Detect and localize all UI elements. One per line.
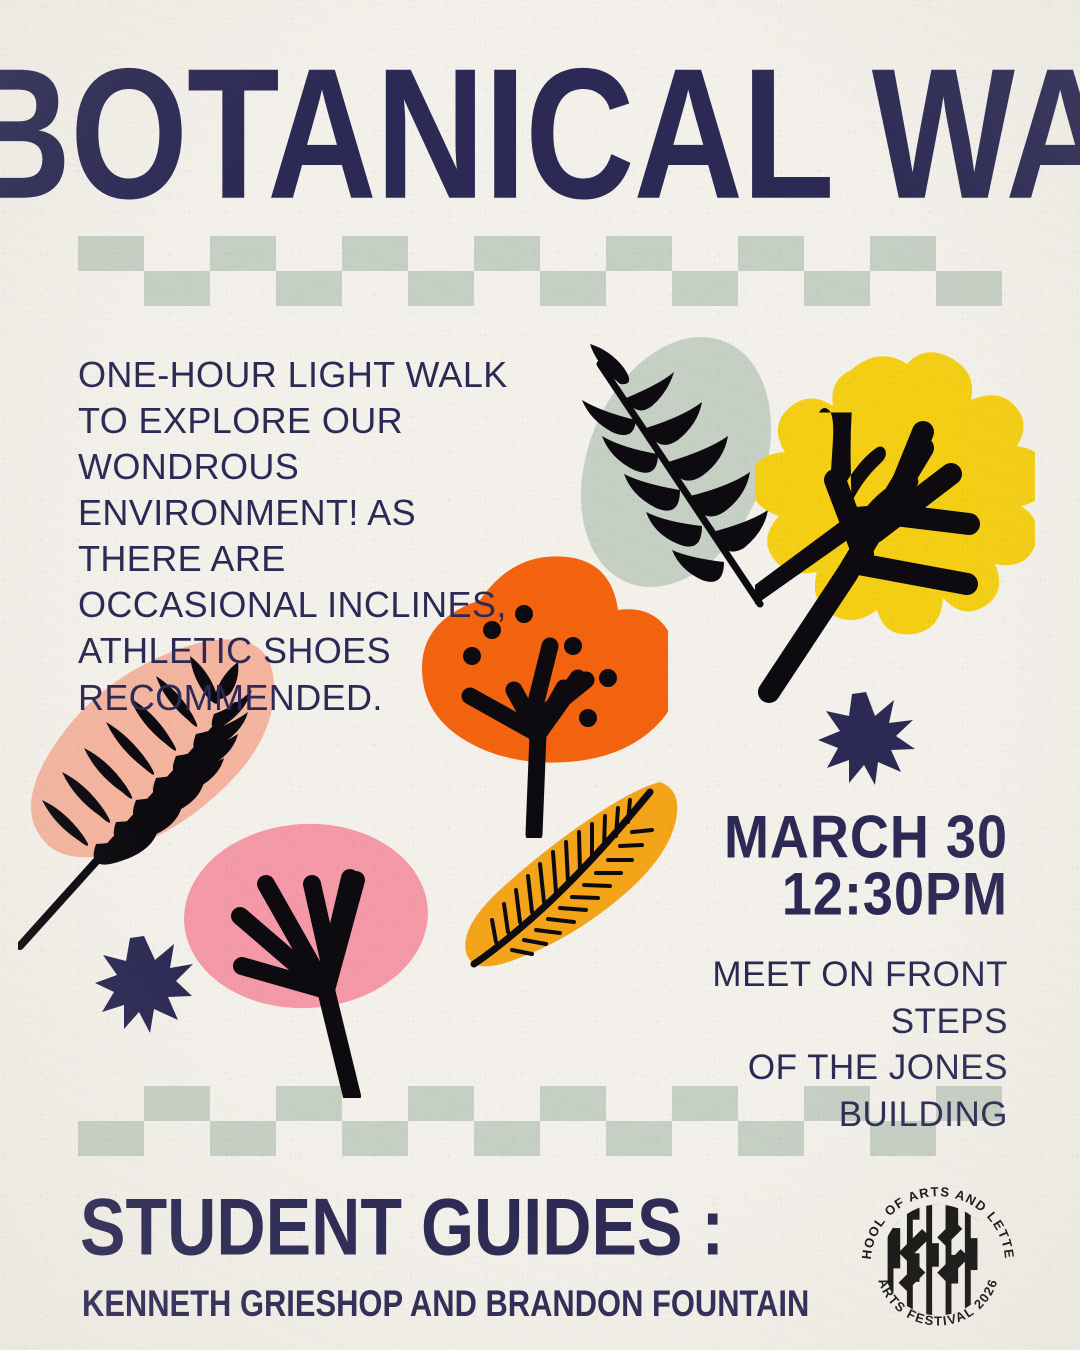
body-description: ONE-HOUR LIGHT WALK TO EXPLORE OUR WONDR… bbox=[78, 352, 518, 721]
poster-canvas: BOTANICAL WALK bbox=[0, 0, 1080, 1350]
event-location: MEET ON FRONT STEPS OF THE JONES BUILDIN… bbox=[588, 952, 1008, 1138]
school-logo: SCHOOL OF ARTS AND LETTERS ARTS FESTIVAL… bbox=[854, 1176, 1022, 1344]
meeting-point-line-1: MEET ON FRONT STEPS bbox=[588, 952, 1008, 1045]
poster-title-container: BOTANICAL WALK bbox=[0, 56, 1080, 179]
student-guides-names: KENNETH GRIESHOP AND BRANDON FOUNTAIN bbox=[82, 1286, 809, 1324]
school-logo-svg: SCHOOL OF ARTS AND LETTERS ARTS FESTIVAL… bbox=[854, 1176, 1022, 1344]
navy-starburst-left-icon bbox=[94, 934, 194, 1034]
event-time: 12:30PM bbox=[608, 863, 1008, 927]
navy-starburst-right-icon bbox=[816, 688, 916, 788]
event-datetime: MARCH 30 12:30PM bbox=[608, 806, 1008, 920]
meeting-point-line-2: OF THE JONES BUILDING bbox=[588, 1045, 1008, 1138]
pink-oval-tree-icon bbox=[178, 818, 448, 1098]
page-title: BOTANICAL WALK bbox=[0, 56, 1080, 216]
yellow-oak-leaf-icon bbox=[755, 328, 1035, 708]
student-guides-heading: STUDENT GUIDES : bbox=[80, 1192, 724, 1265]
